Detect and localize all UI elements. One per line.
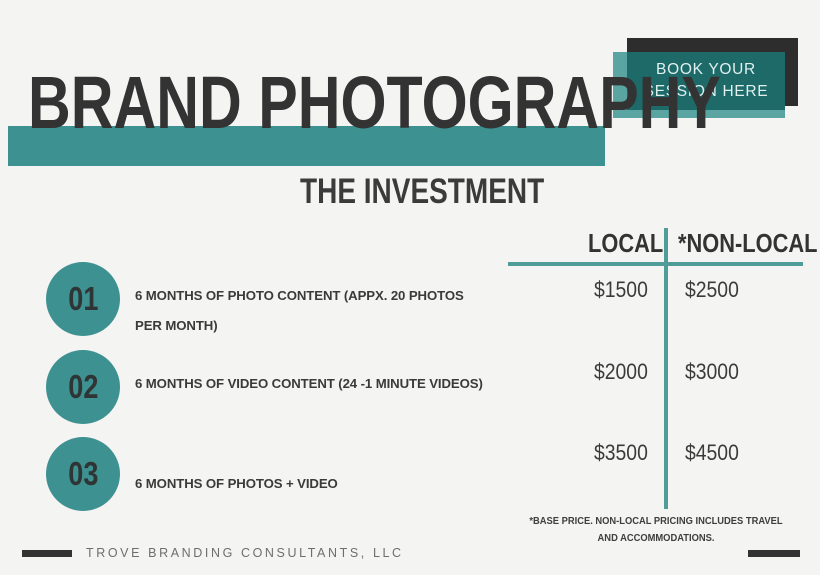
package-number: 03	[68, 455, 98, 493]
price-cell: $1500	[594, 277, 648, 303]
pricing-table-vertical-divider	[664, 228, 668, 509]
price-cell: $4500	[685, 440, 739, 466]
price-cell: $2500	[685, 277, 739, 303]
pricing-column-header-non-local: *NON-LOCAL	[678, 228, 818, 259]
page-title: BRAND PHOTOGRAPHY	[28, 66, 721, 140]
list-item: 01 6 MONTHS OF PHOTO CONTENT (APPX. 20 P…	[46, 262, 485, 341]
pricing-table-horizontal-divider	[508, 262, 803, 266]
pricing-column-header-local: LOCAL	[588, 228, 663, 259]
package-number: 02	[68, 368, 98, 406]
price-cell: $2000	[594, 359, 648, 385]
list-item: 02 6 MONTHS OF VIDEO CONTENT (24 -1 MINU…	[46, 350, 483, 424]
package-number-badge: 02	[46, 350, 120, 424]
package-number-badge: 01	[46, 262, 120, 336]
package-description: 6 MONTHS OF VIDEO CONTENT (24 -1 MINUTE …	[135, 350, 483, 399]
price-cell: $3500	[594, 440, 648, 466]
page-subtitle: THE INVESTMENT	[300, 174, 544, 209]
poster-canvas: BOOK YOUR SESSION HERE BRAND PHOTOGRAPHY…	[0, 0, 820, 575]
package-description: 6 MONTHS OF PHOTO CONTENT (APPX. 20 PHOT…	[135, 262, 485, 341]
package-number: 01	[68, 280, 98, 318]
package-description: 6 MONTHS OF PHOTOS + VIDEO	[135, 437, 338, 499]
package-number-badge: 03	[46, 437, 120, 511]
footer-rule-left	[22, 550, 72, 557]
price-cell: $3000	[685, 359, 739, 385]
footer-rule-right	[748, 550, 800, 557]
list-item: 03 6 MONTHS OF PHOTOS + VIDEO	[46, 437, 338, 511]
footer-company-name: TROVE BRANDING CONSULTANTS, LLC	[86, 546, 404, 560]
pricing-footnote: *BASE PRICE. NON-LOCAL PRICING INCLUDES …	[525, 513, 788, 547]
